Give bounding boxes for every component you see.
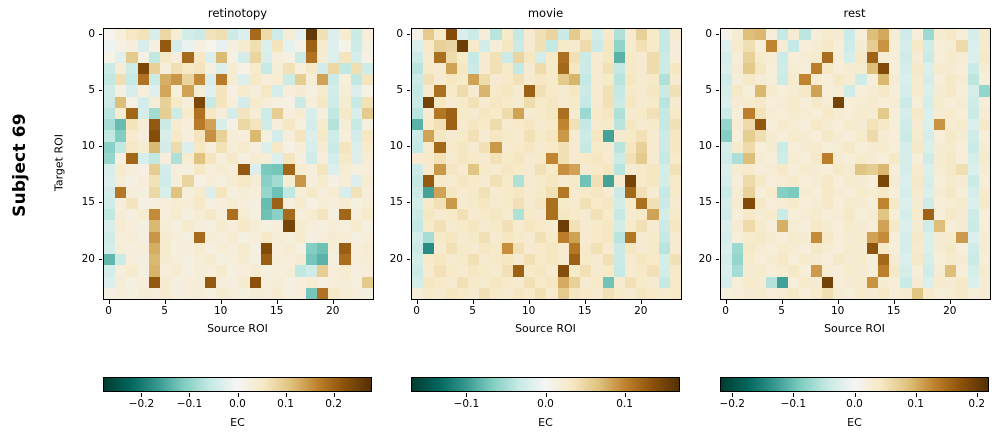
heatmap-cell [855,254,866,265]
heatmap-cell [912,97,923,108]
heatmap-cell [979,85,990,96]
heatmap-cell [502,63,513,74]
heatmap-cell [900,85,911,96]
heatmap-cell [811,119,822,130]
heatmap-cell [766,63,777,74]
heatmap-cell [614,85,625,96]
heatmap-cell [614,40,625,51]
y-tick [99,259,103,260]
heatmap-cell [732,164,743,175]
heatmap-cell [603,108,614,119]
heatmap-cell [900,108,911,119]
heatmap-cell [490,97,501,108]
heatmap-cell [261,243,272,254]
heatmap-cell [272,108,283,119]
heatmap-cell [558,243,569,254]
heatmap-cell [182,198,193,209]
heatmap-cell [878,243,889,254]
heatmap-cell [412,52,423,63]
heatmap-cell [721,220,732,231]
heatmap-cell [227,209,238,220]
heatmap-cell [934,97,945,108]
heatmap-cell [867,130,878,141]
heatmap-cell [777,63,788,74]
heatmap-cell [889,142,900,153]
heatmap-cell [457,63,468,74]
heatmap-cell [788,97,799,108]
heatmap-cell [227,97,238,108]
heatmap-cell [822,209,833,220]
heatmap-cell [115,220,126,231]
x-tick-label: 10 [522,305,535,317]
heatmap-cell [755,40,766,51]
heatmap-cell [732,40,743,51]
heatmap-cell [194,130,205,141]
heatmap-cell [743,130,754,141]
heatmap-cell [833,153,844,164]
heatmap-cell [591,232,602,243]
heatmap-cell [900,265,911,276]
heatmap-cell [766,254,777,265]
heatmap-cell [423,277,434,288]
heatmap-cell [479,198,490,209]
heatmap-cell [923,108,934,119]
heatmap-cell [272,265,283,276]
heatmap-cell [227,108,238,119]
heatmap-cell [777,254,788,265]
heatmap-cell [979,243,990,254]
heatmap-cell [524,130,535,141]
x-tick [950,300,951,304]
heatmap-cell [490,265,501,276]
heatmap-cell [878,187,889,198]
heatmap-cell [721,288,732,299]
heatmap-cell [328,142,339,153]
colorbar-tick-label: −0.1 [454,398,480,410]
heatmap-cell [272,153,283,164]
heatmap-cell [569,220,580,231]
heatmap-cell [844,153,855,164]
heatmap-cell [182,63,193,74]
heatmap-cell [272,254,283,265]
heatmap-cell [956,254,967,265]
heatmap-cell [732,63,743,74]
heatmap-cell [603,142,614,153]
heatmap-cell [732,130,743,141]
heatmap-cell [283,108,294,119]
heatmap-cell [546,209,557,220]
heatmap-cell [900,97,911,108]
heatmap-cell [149,153,160,164]
heatmap-cell [732,209,743,220]
heatmap-cell [490,142,501,153]
heatmap-cell [968,265,979,276]
heatmap-cell [732,85,743,96]
heatmap-cell [194,209,205,220]
heatmap-cell [104,243,115,254]
heatmap-cell [591,153,602,164]
heatmap-cell [423,130,434,141]
heatmap-cell [614,130,625,141]
heatmap-cell [603,209,614,220]
heatmap-cell [833,40,844,51]
heatmap-cell [636,232,647,243]
heatmap-cell [250,175,261,186]
heatmap-cell [138,85,149,96]
heatmap-cell [194,63,205,74]
heatmap-cell [591,29,602,40]
heatmap-cell [833,198,844,209]
heatmap-cell [889,74,900,85]
heatmap-cell [412,288,423,299]
heatmap-cell [799,74,810,85]
heatmap-cell [502,130,513,141]
heatmap-cell [878,130,889,141]
heatmap-cell [216,119,227,130]
x-axis-label: Source ROI [411,322,680,335]
heatmap-cell [138,209,149,220]
heatmap-cell [513,40,524,51]
heatmap-cell [227,277,238,288]
heatmap-cell [490,85,501,96]
heatmap-cell [502,175,513,186]
heatmap-cell [250,232,261,243]
y-axis-label: Target ROI [53,128,66,198]
heatmap-cell [513,63,524,74]
heatmap-cell [160,130,171,141]
heatmap-cell [591,52,602,63]
heatmap-cell [945,187,956,198]
heatmap-cell [535,288,546,299]
heatmap-cell [149,130,160,141]
heatmap-cell [743,175,754,186]
heatmap-cell [261,63,272,74]
heatmap-cell [923,130,934,141]
heatmap-cell [160,209,171,220]
heatmap-cell [328,243,339,254]
colorbar-tick [466,393,467,397]
heatmap-cell [569,52,580,63]
y-tick-label: 15 [348,196,403,208]
heatmap-cell [580,243,591,254]
heatmap-cell [434,63,445,74]
heatmap-cell [822,52,833,63]
heatmap-cell [328,130,339,141]
heatmap-cell [250,265,261,276]
heatmap-cell [799,153,810,164]
heatmap-cell [614,108,625,119]
heatmap-cell [636,187,647,198]
y-tick-label: 5 [657,84,712,96]
x-tick-label: 15 [270,305,283,317]
y-tick-label: 5 [40,84,95,96]
heatmap-cell [468,220,479,231]
heatmap-cell [434,74,445,85]
heatmap-cell [956,220,967,231]
heatmap-cell [743,232,754,243]
y-tick-label: 20 [40,253,95,265]
heatmap-cell [104,97,115,108]
heatmap-cell [811,153,822,164]
heatmap-cell [115,119,126,130]
heatmap-cell [900,130,911,141]
heatmap-cell [625,175,636,186]
x-tick [585,300,586,304]
heatmap-cell [171,74,182,85]
heatmap-cell [446,130,457,141]
heatmap-cell [295,130,306,141]
heatmap-cell [979,288,990,299]
heatmap-cell [468,130,479,141]
y-tick-label: 20 [657,253,712,265]
heatmap-cell [283,153,294,164]
heatmap-cell [513,277,524,288]
heatmap-cell [126,74,137,85]
heatmap-cell [216,265,227,276]
heatmap-cell [194,74,205,85]
heatmap-cell [968,243,979,254]
heatmap-cell [878,52,889,63]
heatmap-cell [216,187,227,198]
heatmap-cell [457,243,468,254]
heatmap-cell [867,142,878,153]
heatmap-cell [732,243,743,254]
heatmap-cell [591,198,602,209]
heatmap-cell [945,265,956,276]
heatmap-cell [126,254,137,265]
heatmap-cell [968,108,979,119]
heatmap-cell [956,29,967,40]
heatmap-cell [104,265,115,276]
x-axis-label: Source ROI [720,322,989,335]
heatmap-cell [844,209,855,220]
heatmap-cell [968,198,979,209]
heatmap-cell [855,52,866,63]
heatmap-cell [138,288,149,299]
heatmap-cell [468,265,479,276]
heatmap-cell [591,265,602,276]
heatmap-cell [434,29,445,40]
heatmap-cell [490,164,501,175]
heatmap-cell [855,142,866,153]
heatmap-cell [535,187,546,198]
heatmap-cell [558,97,569,108]
heatmap-cell [721,209,732,220]
heatmap-cell [811,243,822,254]
heatmap-cell [912,130,923,141]
heatmap-cell [205,220,216,231]
heatmap-cell [457,175,468,186]
heatmap-cell [743,29,754,40]
heatmap-cell [479,232,490,243]
heatmap-cell [603,187,614,198]
heatmap-cell [479,243,490,254]
heatmap-cell [844,198,855,209]
heatmap-cell [822,254,833,265]
heatmap-cell [878,153,889,164]
heatmap-cell [115,85,126,96]
heatmap-cell [979,187,990,198]
heatmap-cell [755,74,766,85]
heatmap-cell [283,85,294,96]
heatmap-cell [766,164,777,175]
heatmap-cell [614,254,625,265]
heatmap-cell [490,220,501,231]
heatmap-cell [591,288,602,299]
heatmap-cell [732,74,743,85]
heatmap-cell [799,243,810,254]
heatmap-cell [721,164,732,175]
heatmap-cell [479,153,490,164]
heatmap-cell [844,232,855,243]
heatmap-cell [250,85,261,96]
heatmap-cell [446,220,457,231]
heatmap-cell [272,243,283,254]
heatmap-cell [502,209,513,220]
heatmap-cell [934,108,945,119]
colorbar-tick-label: −0.1 [781,398,807,410]
heatmap-cell [502,243,513,254]
heatmap-cell [295,63,306,74]
heatmap-cell [490,209,501,220]
heatmap-cell [524,187,535,198]
heatmap-cell [238,97,249,108]
heatmap-cell [546,63,557,74]
heatmap-cell [923,74,934,85]
heatmap-cell [569,153,580,164]
heatmap-cell [580,142,591,153]
y-tick-label: 0 [657,28,712,40]
heatmap-cell [844,164,855,175]
heatmap-cell [625,63,636,74]
heatmap-cell [945,108,956,119]
x-tick-label: 20 [326,305,339,317]
heatmap-cell [912,142,923,153]
heatmap-cell [535,254,546,265]
heatmap-cell [934,153,945,164]
heatmap-cell [822,74,833,85]
heatmap-cell [513,265,524,276]
heatmap-cell [468,198,479,209]
heatmap-cell [306,175,317,186]
heatmap-cell [591,277,602,288]
heatmap-cell [126,40,137,51]
x-tick [165,300,166,304]
heatmap-cell [558,232,569,243]
heatmap-cell [569,288,580,299]
heatmap-cell [923,220,934,231]
heatmap-cell [272,209,283,220]
heatmap-cell [546,97,557,108]
heatmap-cell [580,85,591,96]
heatmap-cell [138,265,149,276]
heatmap-cell [182,130,193,141]
heatmap-cell [171,108,182,119]
heatmap-cell [614,265,625,276]
heatmap-cell [721,277,732,288]
heatmap-cell [138,119,149,130]
heatmap-cell [855,85,866,96]
heatmap-cell [261,220,272,231]
heatmap-cell [889,187,900,198]
heatmap-cell [855,119,866,130]
heatmap-cell [194,277,205,288]
heatmap-cell [423,142,434,153]
heatmap-cell [295,198,306,209]
heatmap-cell [956,175,967,186]
heatmap-cell [591,142,602,153]
heatmap-cell [138,108,149,119]
heatmap-cell [479,187,490,198]
heatmap-cell [732,119,743,130]
heatmap-cell [272,277,283,288]
heatmap-cell [945,119,956,130]
heatmap-cell [261,29,272,40]
heatmap-cell [160,243,171,254]
heatmap-cell [479,175,490,186]
heatmap-cell [216,220,227,231]
heatmap-cell [182,52,193,63]
heatmap-cell [535,220,546,231]
heatmap-cell [788,288,799,299]
heatmap-cell [468,175,479,186]
heatmap-cell [822,29,833,40]
heatmap-cell [603,220,614,231]
heatmap-cell [625,153,636,164]
heatmap-cell [479,164,490,175]
heatmap-cell [743,198,754,209]
heatmap-cell [603,29,614,40]
heatmap-cell [104,220,115,231]
x-tick [838,300,839,304]
heatmap-cell [844,265,855,276]
heatmap-cell [194,187,205,198]
heatmap-cell [546,254,557,265]
heatmap-cell [216,153,227,164]
heatmap-cell [833,29,844,40]
heatmap-cell [979,142,990,153]
heatmap-cell [878,265,889,276]
heatmap-cell [811,265,822,276]
colorbar-tick-label: −0.2 [129,398,155,410]
heatmap-cell [513,130,524,141]
heatmap-cell [867,119,878,130]
heatmap-cell [788,130,799,141]
heatmap-cell [283,29,294,40]
heatmap-cell [614,52,625,63]
x-tick-label: 5 [778,305,785,317]
colorbar-tick [286,393,287,397]
heatmap-cell [250,52,261,63]
heatmap-cell [580,97,591,108]
heatmap-cell [205,288,216,299]
heatmap-cell [524,142,535,153]
heatmap-cell [434,130,445,141]
heatmap-cell [126,187,137,198]
heatmap-cell [328,164,339,175]
heatmap-cell [194,232,205,243]
heatmap-cell [546,265,557,276]
heatmap-cell [844,254,855,265]
heatmap-cell [283,220,294,231]
heatmap-cell [603,265,614,276]
heatmap-cell [743,277,754,288]
heatmap-cell [799,198,810,209]
heatmap-cell [126,243,137,254]
heatmap-cell [250,119,261,130]
heatmap-cell [250,130,261,141]
heatmap-cell [766,74,777,85]
